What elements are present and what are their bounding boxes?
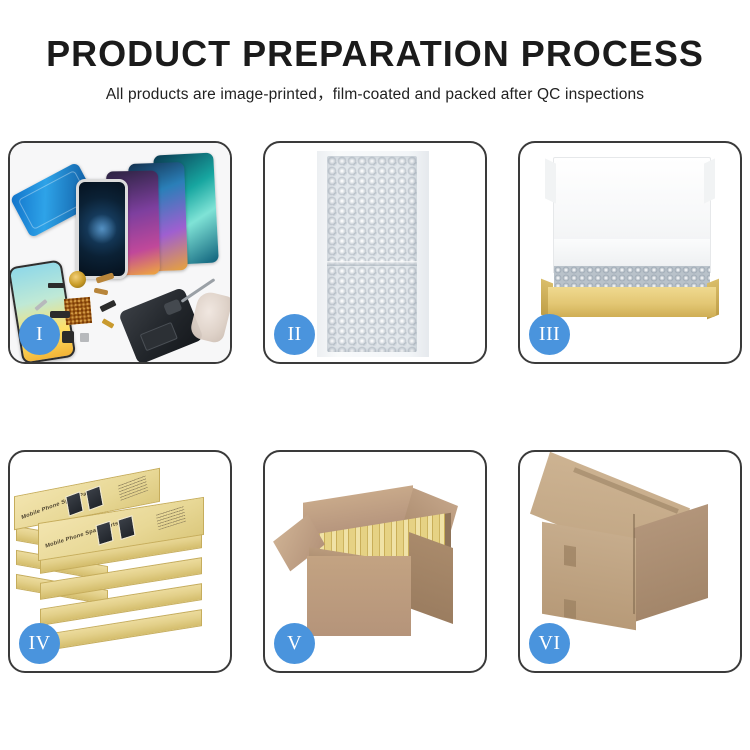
carton-tape-upper-icon bbox=[564, 545, 576, 567]
step-card-1: I bbox=[8, 141, 232, 364]
step-badge-5: V bbox=[274, 623, 315, 664]
step-card-6: VI bbox=[518, 450, 742, 673]
step-badge-4: IV bbox=[19, 623, 60, 664]
speaker-part-icon bbox=[62, 331, 74, 343]
camera-lens-icon bbox=[163, 299, 182, 316]
product-preparation-process-page: PRODUCT PREPARATION PROCESS All products… bbox=[0, 0, 750, 750]
carton-front-face-icon bbox=[307, 556, 411, 636]
step-badge-6: VI bbox=[529, 623, 570, 664]
wireless-coil-part-icon bbox=[69, 271, 86, 288]
step-card-5: V bbox=[263, 450, 487, 673]
page-header: PRODUCT PREPARATION PROCESS All products… bbox=[0, 0, 750, 126]
battery-icon bbox=[140, 322, 178, 351]
step-card-4: Mobile Phone Spare Parts Mobile Phone Sp… bbox=[8, 450, 232, 673]
step-badge-1: I bbox=[19, 314, 60, 355]
small-part-icon bbox=[48, 283, 64, 288]
pouch-seam-icon bbox=[327, 261, 417, 266]
box-lid-left-flap-icon bbox=[545, 158, 556, 203]
bubble-wrap-icon bbox=[327, 156, 417, 352]
box-lid-right-flap-icon bbox=[704, 158, 715, 203]
step-badge-3: III bbox=[529, 314, 570, 355]
kraft-box-front-icon bbox=[548, 287, 716, 317]
carton-right-side-icon bbox=[409, 532, 453, 624]
carton-tape-lower-icon bbox=[564, 599, 576, 619]
connector-part-icon bbox=[50, 311, 70, 318]
step-card-3: III bbox=[518, 141, 742, 364]
carton-front-face-icon bbox=[542, 522, 636, 631]
page-title: PRODUCT PREPARATION PROCESS bbox=[0, 34, 750, 74]
phone-front-glass-icon bbox=[76, 179, 128, 279]
step-badge-2: II bbox=[274, 314, 315, 355]
carton-vertical-edge-icon bbox=[633, 514, 635, 614]
foam-sheet-icon bbox=[554, 239, 710, 267]
step-card-2: II bbox=[263, 141, 487, 364]
process-steps-grid: I II III bbox=[8, 141, 742, 673]
screw-part-icon bbox=[80, 333, 89, 342]
page-subtitle: All products are image-printed，film-coat… bbox=[0, 85, 750, 105]
